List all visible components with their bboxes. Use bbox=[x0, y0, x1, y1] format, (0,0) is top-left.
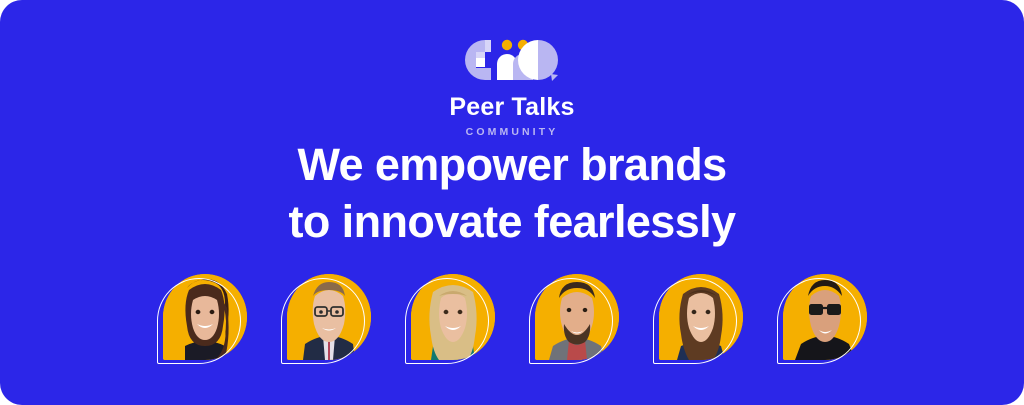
avatar-5 bbox=[653, 272, 743, 364]
avatar-3-photo bbox=[411, 274, 495, 360]
promo-banner: Peer Talks COMMUNITY We empower brands t… bbox=[0, 0, 1024, 405]
headline-line-2: to innovate fearlessly bbox=[0, 193, 1024, 250]
avatar-5-photo bbox=[659, 274, 743, 360]
avatar-4-photo bbox=[535, 274, 619, 360]
avatar-1 bbox=[157, 272, 247, 364]
avatar-6 bbox=[777, 272, 867, 364]
logo-wordmark: Peer Talks bbox=[449, 95, 574, 120]
avatar-2-photo bbox=[287, 274, 371, 360]
cmq-logo-mark bbox=[459, 34, 565, 86]
logo-block: Peer Talks COMMUNITY bbox=[0, 34, 1024, 138]
headline-line-1: We empower brands bbox=[0, 136, 1024, 193]
avatar-row bbox=[0, 272, 1024, 364]
avatar-1-photo bbox=[163, 274, 247, 360]
avatar-6-photo bbox=[783, 274, 867, 360]
logo-letter-c bbox=[465, 40, 491, 80]
headline: We empower brands to innovate fearlessly bbox=[0, 136, 1024, 250]
avatar-4 bbox=[529, 272, 619, 364]
avatar-2 bbox=[281, 272, 371, 364]
avatar-3 bbox=[405, 272, 495, 364]
